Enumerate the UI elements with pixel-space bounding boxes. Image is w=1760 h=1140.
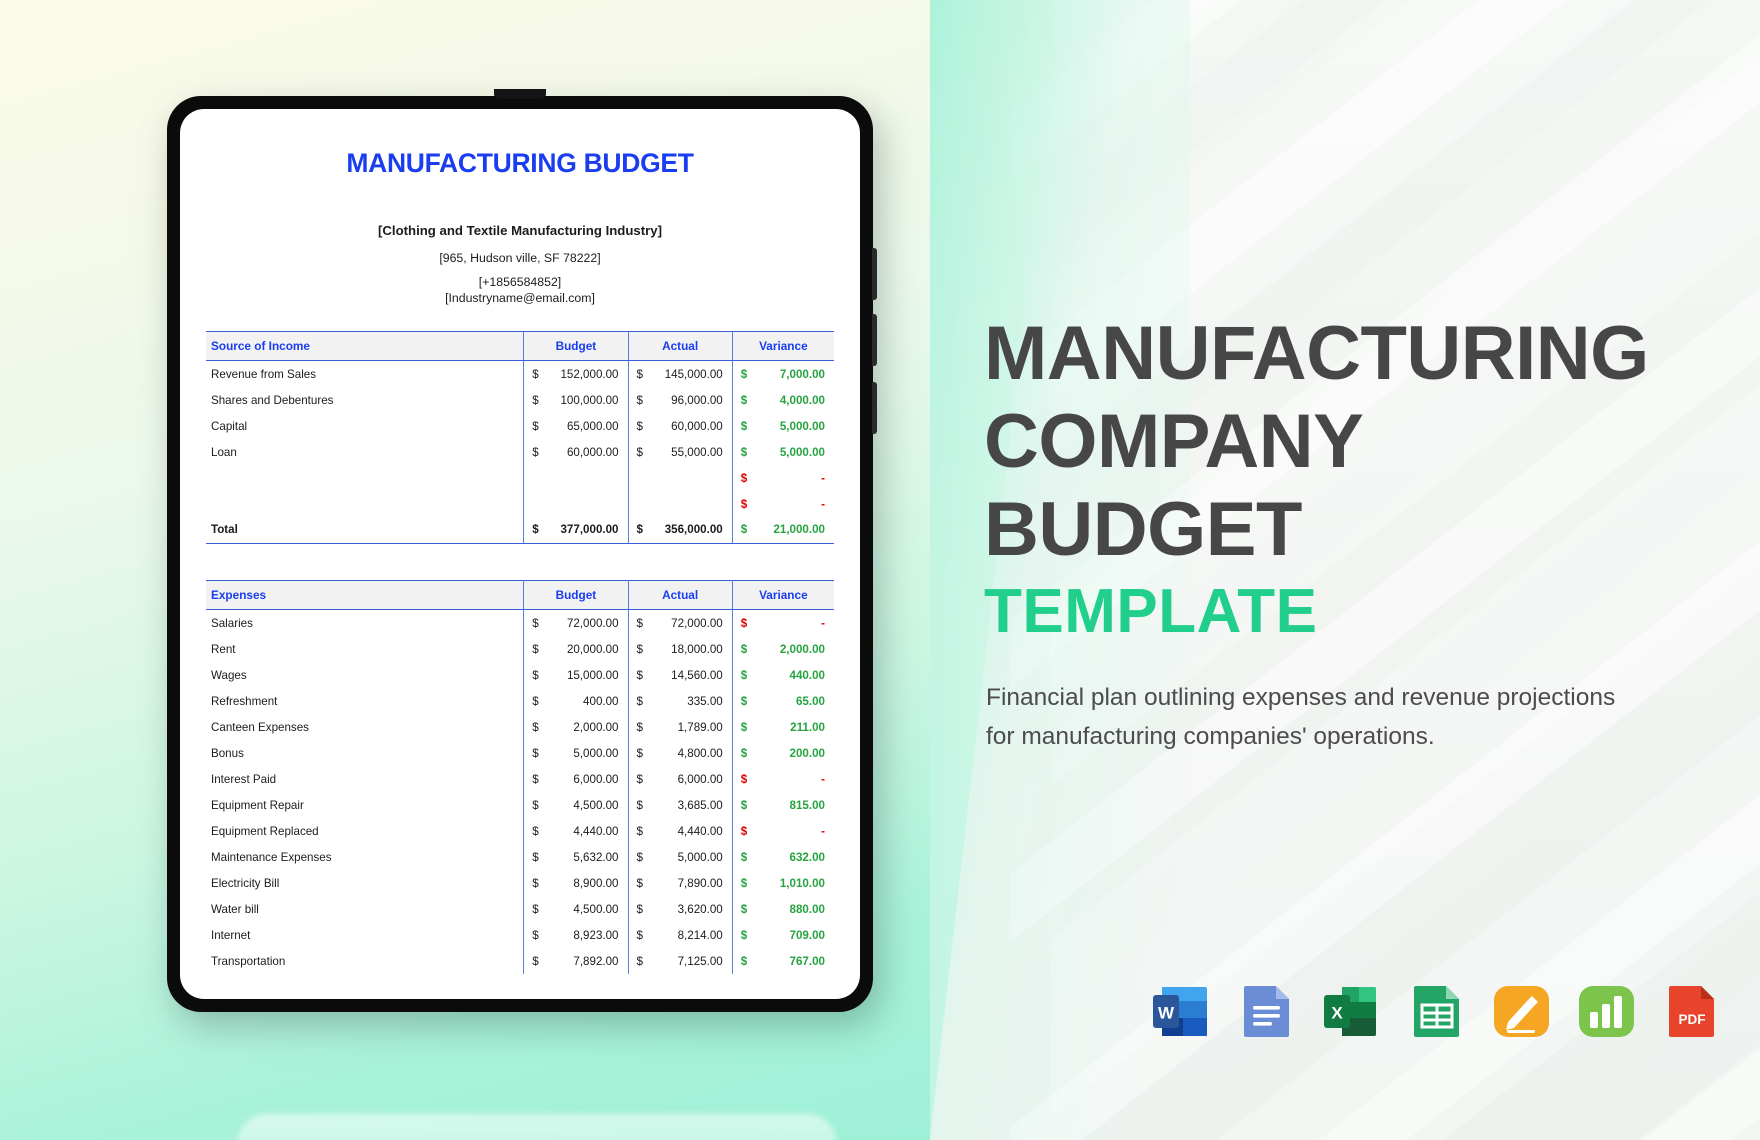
table-row: Electricity Bill$8,900.00$7,890.00$1,010… xyxy=(206,870,834,896)
table-row: Shares and Debentures$100,000.00$96,000.… xyxy=(206,387,834,413)
amount-value: 152,000.00 xyxy=(560,368,618,381)
amount-value: 4,000.00 xyxy=(780,394,825,407)
promo-panel: MANUFACTURING COMPANY BUDGET TEMPLATE Fi… xyxy=(984,0,1760,1140)
currency-symbol: $ xyxy=(741,877,747,890)
tablet-reflection xyxy=(237,1114,837,1140)
amount-value: 100,000.00 xyxy=(560,394,618,407)
amount-value: 4,500.00 xyxy=(573,903,618,916)
amount-value: 2,000.00 xyxy=(780,643,825,656)
svg-text:PDF: PDF xyxy=(1679,1012,1706,1027)
row-label: Capital xyxy=(206,413,524,439)
currency-symbol: $ xyxy=(637,643,643,656)
amount-value: 6,000.00 xyxy=(573,773,618,786)
currency-symbol: $ xyxy=(741,747,747,760)
currency-symbol: $ xyxy=(532,825,538,838)
currency-symbol: $ xyxy=(532,955,538,968)
promo-headline-line1: MANUFACTURING xyxy=(984,310,1714,398)
amount-value: 5,632.00 xyxy=(573,851,618,864)
word-icon[interactable]: W xyxy=(1148,978,1215,1045)
expenses-table-body: Salaries$72,000.00$72,000.00$-Rent$20,00… xyxy=(206,610,834,975)
currency-symbol: $ xyxy=(637,903,643,916)
currency-symbol: $ xyxy=(741,472,747,485)
promo-headline-accent: TEMPLATE xyxy=(984,574,1714,650)
amount-value: 7,890.00 xyxy=(678,877,723,890)
amount-value: 5,000.00 xyxy=(780,446,825,459)
amount-value: 6,000.00 xyxy=(678,773,723,786)
empty-cell xyxy=(524,491,628,517)
currency-symbol: $ xyxy=(532,929,538,942)
income-table-body: Revenue from Sales$152,000.00$145,000.00… xyxy=(206,361,834,544)
tablet-screen: MANUFACTURING BUDGET [Clothing and Texti… xyxy=(180,109,860,999)
table-row: Wages$15,000.00$14,560.00$440.00 xyxy=(206,662,834,688)
row-label: Loan xyxy=(206,439,524,465)
currency-symbol: $ xyxy=(741,368,747,381)
promo-headline-line3: BUDGET xyxy=(984,486,1714,574)
company-phone: [+1856584852] xyxy=(206,275,834,289)
amount-value: 356,000.00 xyxy=(665,523,723,536)
row-label: Water bill xyxy=(206,896,524,922)
amount-value: 18,000.00 xyxy=(671,643,723,656)
total-row: Total$377,000.00$356,000.00$21,000.00 xyxy=(206,517,834,544)
currency-symbol: $ xyxy=(741,420,747,433)
amount-value: 400.00 xyxy=(583,695,618,708)
row-label: Canteen Expenses xyxy=(206,714,524,740)
empty-cell xyxy=(628,465,732,491)
income-header-actual: Actual xyxy=(628,332,732,361)
promo-description: Financial plan outlining expenses and re… xyxy=(986,678,1626,756)
row-label: Electricity Bill xyxy=(206,870,524,896)
currency-symbol: $ xyxy=(532,617,538,630)
income-header-variance: Variance xyxy=(732,332,834,361)
currency-symbol: $ xyxy=(741,523,747,536)
currency-symbol: $ xyxy=(637,825,643,838)
table-row: Transportation$7,892.00$7,125.00$767.00 xyxy=(206,948,834,974)
amount-value: 8,214.00 xyxy=(678,929,723,942)
amount-value: 3,685.00 xyxy=(678,799,723,812)
currency-symbol: $ xyxy=(637,523,643,536)
currency-symbol: $ xyxy=(637,955,643,968)
amount-value: 335.00 xyxy=(687,695,722,708)
income-table: Source of Income Budget Actual Variance … xyxy=(206,331,834,544)
currency-symbol: $ xyxy=(741,617,747,630)
amount-value: - xyxy=(821,498,825,511)
amount-value: 7,892.00 xyxy=(573,955,618,968)
currency-symbol: $ xyxy=(532,523,538,536)
table-row: Loan$60,000.00$55,000.00$5,000.00 xyxy=(206,439,834,465)
currency-symbol: $ xyxy=(637,368,643,381)
empty-cell xyxy=(628,491,732,517)
promo-headline: MANUFACTURING COMPANY BUDGET TEMPLATE xyxy=(984,310,1714,650)
currency-symbol: $ xyxy=(741,903,747,916)
promo-headline-line2: COMPANY xyxy=(984,398,1714,486)
amount-value: 145,000.00 xyxy=(665,368,723,381)
svg-text:X: X xyxy=(1331,1004,1343,1023)
company-email: [Industryname@email.com] xyxy=(206,291,834,305)
company-name: [Clothing and Textile Manufacturing Indu… xyxy=(206,223,834,238)
currency-symbol: $ xyxy=(741,955,747,968)
apple-numbers-icon[interactable] xyxy=(1573,978,1640,1045)
amount-value: 377,000.00 xyxy=(560,523,618,536)
document-title: MANUFACTURING BUDGET xyxy=(206,148,834,179)
income-table-header: Source of Income Budget Actual Variance xyxy=(206,332,834,361)
amount-value: 4,440.00 xyxy=(678,825,723,838)
currency-symbol: $ xyxy=(532,721,538,734)
row-label xyxy=(206,491,524,517)
tablet-camera-notch xyxy=(494,89,546,99)
currency-symbol: $ xyxy=(637,721,643,734)
expenses-table: Expenses Budget Actual Variance Salaries… xyxy=(206,580,834,974)
file-format-icon-row: W X xyxy=(1148,978,1725,1045)
row-label: Rent xyxy=(206,636,524,662)
amount-value: 8,900.00 xyxy=(573,877,618,890)
row-label: Equipment Repair xyxy=(206,792,524,818)
total-label: Total xyxy=(206,517,524,544)
row-label: Shares and Debentures xyxy=(206,387,524,413)
svg-text:W: W xyxy=(1158,1004,1175,1023)
amount-value: 709.00 xyxy=(790,929,825,942)
income-header-budget: Budget xyxy=(524,332,628,361)
row-label: Maintenance Expenses xyxy=(206,844,524,870)
amount-value: - xyxy=(821,472,825,485)
currency-symbol: $ xyxy=(637,695,643,708)
google-docs-icon[interactable] xyxy=(1233,978,1300,1045)
amount-value: 55,000.00 xyxy=(671,446,723,459)
amount-value: 632.00 xyxy=(790,851,825,864)
amount-value: 72,000.00 xyxy=(567,617,619,630)
table-row: Canteen Expenses$2,000.00$1,789.00$211.0… xyxy=(206,714,834,740)
apple-pages-icon[interactable] xyxy=(1488,978,1555,1045)
currency-symbol: $ xyxy=(741,669,747,682)
amount-value: 20,000.00 xyxy=(567,643,619,656)
currency-symbol: $ xyxy=(637,877,643,890)
row-label: Transportation xyxy=(206,948,524,974)
table-row: Salaries$72,000.00$72,000.00$- xyxy=(206,610,834,637)
currency-symbol: $ xyxy=(741,498,747,511)
currency-symbol: $ xyxy=(532,643,538,656)
amount-value: 14,560.00 xyxy=(671,669,723,682)
amount-value: 5,000.00 xyxy=(573,747,618,760)
currency-symbol: $ xyxy=(637,617,643,630)
amount-value: 200.00 xyxy=(790,747,825,760)
currency-symbol: $ xyxy=(532,773,538,786)
expenses-table-header: Expenses Budget Actual Variance xyxy=(206,581,834,610)
currency-symbol: $ xyxy=(741,394,747,407)
currency-symbol: $ xyxy=(532,903,538,916)
table-row: Rent$20,000.00$18,000.00$2,000.00 xyxy=(206,636,834,662)
amount-value: 7,000.00 xyxy=(780,368,825,381)
currency-symbol: $ xyxy=(532,669,538,682)
currency-symbol: $ xyxy=(741,643,747,656)
currency-symbol: $ xyxy=(637,446,643,459)
currency-symbol: $ xyxy=(637,394,643,407)
currency-symbol: $ xyxy=(532,877,538,890)
amount-value: 2,000.00 xyxy=(573,721,618,734)
amount-value: 4,440.00 xyxy=(573,825,618,838)
currency-symbol: $ xyxy=(741,799,747,812)
table-row: Refreshment$400.00$335.00$65.00 xyxy=(206,688,834,714)
currency-symbol: $ xyxy=(532,851,538,864)
amount-value: 65,000.00 xyxy=(567,420,619,433)
amount-value: 72,000.00 xyxy=(671,617,723,630)
row-label: Interest Paid xyxy=(206,766,524,792)
table-row: Capital$65,000.00$60,000.00$5,000.00 xyxy=(206,413,834,439)
row-label: Bonus xyxy=(206,740,524,766)
currency-symbol: $ xyxy=(741,929,747,942)
google-sheets-icon[interactable] xyxy=(1403,978,1470,1045)
amount-value: 767.00 xyxy=(790,955,825,968)
tablet-bezel: MANUFACTURING BUDGET [Clothing and Texti… xyxy=(167,96,873,1012)
currency-symbol: $ xyxy=(637,773,643,786)
amount-value: 3,620.00 xyxy=(678,903,723,916)
amount-value: 21,000.00 xyxy=(773,523,825,536)
currency-symbol: $ xyxy=(532,747,538,760)
amount-value: 5,000.00 xyxy=(780,420,825,433)
amount-value: 65.00 xyxy=(796,695,825,708)
income-header-source: Source of Income xyxy=(206,332,524,361)
tablet-side-button-3[interactable] xyxy=(872,382,877,434)
currency-symbol: $ xyxy=(532,695,538,708)
tablet-side-button-1[interactable] xyxy=(872,248,877,300)
amount-value: 4,800.00 xyxy=(678,747,723,760)
table-row: Revenue from Sales$152,000.00$145,000.00… xyxy=(206,361,834,388)
expenses-header-budget: Budget xyxy=(524,581,628,610)
amount-value: 5,000.00 xyxy=(678,851,723,864)
currency-symbol: $ xyxy=(532,799,538,812)
currency-symbol: $ xyxy=(741,825,747,838)
currency-symbol: $ xyxy=(532,446,538,459)
row-label: Revenue from Sales xyxy=(206,361,524,388)
expenses-header-row: Expenses Budget Actual Variance xyxy=(206,581,834,610)
currency-symbol: $ xyxy=(637,929,643,942)
empty-cell xyxy=(524,465,628,491)
row-label xyxy=(206,465,524,491)
amount-value: 60,000.00 xyxy=(567,446,619,459)
excel-icon[interactable]: X xyxy=(1318,978,1385,1045)
tablet-mockup: MANUFACTURING BUDGET [Clothing and Texti… xyxy=(167,96,889,1026)
currency-symbol: $ xyxy=(532,368,538,381)
amount-value: - xyxy=(821,825,825,838)
currency-symbol: $ xyxy=(741,695,747,708)
currency-symbol: $ xyxy=(637,669,643,682)
amount-value: 880.00 xyxy=(790,903,825,916)
row-label: Internet xyxy=(206,922,524,948)
amount-value: 440.00 xyxy=(790,669,825,682)
table-row: Maintenance Expenses$5,632.00$5,000.00$6… xyxy=(206,844,834,870)
blank-row: $- xyxy=(206,465,834,491)
pdf-icon[interactable]: PDF xyxy=(1658,978,1725,1045)
amount-value: 1,789.00 xyxy=(678,721,723,734)
table-row: Internet$8,923.00$8,214.00$709.00 xyxy=(206,922,834,948)
currency-symbol: $ xyxy=(637,420,643,433)
amount-value: 8,923.00 xyxy=(573,929,618,942)
currency-symbol: $ xyxy=(637,851,643,864)
amount-value: 15,000.00 xyxy=(567,669,619,682)
table-row: Water bill$4,500.00$3,620.00$880.00 xyxy=(206,896,834,922)
row-label: Salaries xyxy=(206,610,524,637)
amount-value: 4,500.00 xyxy=(573,799,618,812)
income-header-row: Source of Income Budget Actual Variance xyxy=(206,332,834,361)
currency-symbol: $ xyxy=(532,394,538,407)
table-row: Bonus$5,000.00$4,800.00$200.00 xyxy=(206,740,834,766)
amount-value: 211.00 xyxy=(790,721,825,734)
currency-symbol: $ xyxy=(637,799,643,812)
blank-row: $- xyxy=(206,491,834,517)
row-label: Equipment Replaced xyxy=(206,818,524,844)
amount-value: - xyxy=(821,773,825,786)
expenses-header-expenses: Expenses xyxy=(206,581,524,610)
currency-symbol: $ xyxy=(637,747,643,760)
currency-symbol: $ xyxy=(741,446,747,459)
expenses-header-actual: Actual xyxy=(628,581,732,610)
currency-symbol: $ xyxy=(532,420,538,433)
table-row: Equipment Repair$4,500.00$3,685.00$815.0… xyxy=(206,792,834,818)
currency-symbol: $ xyxy=(741,773,747,786)
currency-symbol: $ xyxy=(741,851,747,864)
amount-value: - xyxy=(821,617,825,630)
amount-value: 7,125.00 xyxy=(678,955,723,968)
budget-document: MANUFACTURING BUDGET [Clothing and Texti… xyxy=(180,109,860,974)
table-row: Interest Paid$6,000.00$6,000.00$- xyxy=(206,766,834,792)
amount-value: 1,010.00 xyxy=(780,877,825,890)
currency-symbol: $ xyxy=(741,721,747,734)
table-row: Equipment Replaced$4,440.00$4,440.00$- xyxy=(206,818,834,844)
expenses-header-variance: Variance xyxy=(732,581,834,610)
amount-value: 815.00 xyxy=(790,799,825,812)
amount-value: 96,000.00 xyxy=(671,394,723,407)
row-label: Wages xyxy=(206,662,524,688)
company-address: [965, Hudson ville, SF 78222] xyxy=(206,251,834,265)
tablet-side-button-2[interactable] xyxy=(872,314,877,366)
row-label: Refreshment xyxy=(206,688,524,714)
amount-value: 60,000.00 xyxy=(671,420,723,433)
